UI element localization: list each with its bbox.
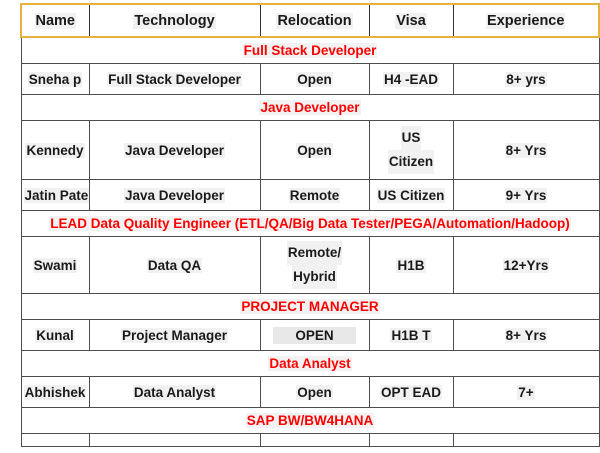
column-header-visa[interactable]: Visa (369, 4, 453, 37)
candidate-table: Name Technology Relocation Visa Experien… (20, 3, 600, 447)
cell-relocation[interactable]: OPEN (260, 320, 369, 351)
cell-relocation[interactable]: Remote (260, 180, 369, 211)
column-header-relocation[interactable]: Relocation (260, 4, 369, 37)
column-header-experience-label: Experience (486, 13, 565, 29)
cell-experience[interactable]: 7+ (453, 377, 599, 408)
section-row: Java Developer (21, 95, 599, 121)
section-header-cell[interactable]: LEAD Data Quality Engineer (ETL/QA/Big D… (21, 211, 599, 237)
cell-name[interactable]: Kunal (21, 320, 89, 351)
section-row: LEAD Data Quality Engineer (ETL/QA/Big D… (21, 211, 599, 237)
section-header-label: Full Stack Developer (243, 43, 378, 58)
cell-visa[interactable]: H4 -EAD (369, 64, 453, 95)
table-row-partial (21, 434, 599, 447)
cell-technology[interactable]: Java Developer (89, 121, 260, 180)
section-row: Full Stack Developer (21, 37, 599, 64)
cell-experience[interactable]: 8+ Yrs (453, 121, 599, 180)
section-row: Data Analyst (21, 351, 599, 377)
cell-technology[interactable]: Full Stack Developer (89, 64, 260, 95)
cell-name[interactable]: Swami (21, 237, 89, 294)
table-header-row: Name Technology Relocation Visa Experien… (21, 4, 599, 37)
section-header-label: SAP BW/BW4HANA (246, 413, 375, 428)
cell-relocation[interactable]: Open (260, 121, 369, 180)
cell-name[interactable] (21, 434, 89, 447)
cell-technology[interactable]: Data QA (89, 237, 260, 294)
section-row: PROJECT MANAGER (21, 294, 599, 320)
column-header-technology[interactable]: Technology (89, 4, 260, 37)
table-row: Kunal Project Manager OPEN H1B T 8+ Yrs (21, 320, 599, 351)
section-row: SAP BW/BW4HANA (21, 408, 599, 434)
section-header-cell[interactable]: PROJECT MANAGER (21, 294, 599, 320)
cell-technology[interactable]: Project Manager (89, 320, 260, 351)
cell-name[interactable]: Kennedy (21, 121, 89, 180)
section-header-label: Data Analyst (268, 356, 351, 371)
cell-name[interactable]: Sneha p (21, 64, 89, 95)
column-header-name[interactable]: Name (21, 4, 89, 37)
cell-name[interactable]: Abhishek (21, 377, 89, 408)
column-header-relocation-label: Relocation (276, 13, 352, 29)
section-header-label: LEAD Data Quality Engineer (ETL/QA/Big D… (49, 216, 571, 231)
section-header-cell[interactable]: Data Analyst (21, 351, 599, 377)
column-header-visa-label: Visa (395, 13, 427, 29)
cell-relocation[interactable]: Open (260, 377, 369, 408)
cell-visa[interactable]: USCitizen (369, 121, 453, 180)
cell-experience[interactable]: 8+ Yrs (453, 320, 599, 351)
section-header-cell[interactable]: Java Developer (21, 95, 599, 121)
cell-experience[interactable]: 12+Yrs (453, 237, 599, 294)
cell-visa[interactable] (369, 434, 453, 447)
column-header-experience[interactable]: Experience (453, 4, 599, 37)
cell-relocation[interactable]: Open (260, 64, 369, 95)
table-row: Jatin Patel Java Developer Remote US Cit… (21, 180, 599, 211)
table-row: Kennedy Java Developer Open USCitizen 8+… (21, 121, 599, 180)
cell-relocation[interactable]: Remote/Hybrid (260, 237, 369, 294)
cell-technology[interactable]: Java Developer (89, 180, 260, 211)
cell-visa[interactable]: OPT EAD (369, 377, 453, 408)
cell-visa[interactable]: H1B (369, 237, 453, 294)
cell-experience[interactable] (453, 434, 599, 447)
table-row: Swami Data QA Remote/Hybrid H1B 12+Yrs (21, 237, 599, 294)
column-header-technology-label: Technology (133, 13, 215, 29)
spreadsheet-canvas: Name Technology Relocation Visa Experien… (0, 3, 600, 453)
cell-visa[interactable]: H1B T (369, 320, 453, 351)
cell-experience[interactable]: 9+ Yrs (453, 180, 599, 211)
cell-visa[interactable]: US Citizen (369, 180, 453, 211)
section-header-cell[interactable]: Full Stack Developer (21, 37, 599, 64)
cell-experience[interactable]: 8+ yrs (453, 64, 599, 95)
column-header-name-label: Name (35, 13, 77, 29)
table-row: Abhishek Data Analyst Open OPT EAD 7+ (21, 377, 599, 408)
section-header-cell[interactable]: SAP BW/BW4HANA (21, 408, 599, 434)
cell-name[interactable]: Jatin Patel (21, 180, 89, 211)
section-header-label: PROJECT MANAGER (240, 299, 379, 314)
section-header-label: Java Developer (259, 100, 360, 115)
cell-technology[interactable] (89, 434, 260, 447)
table-row: Sneha p Full Stack Developer Open H4 -EA… (21, 64, 599, 95)
cell-relocation[interactable] (260, 434, 369, 447)
cell-technology[interactable]: Data Analyst (89, 377, 260, 408)
